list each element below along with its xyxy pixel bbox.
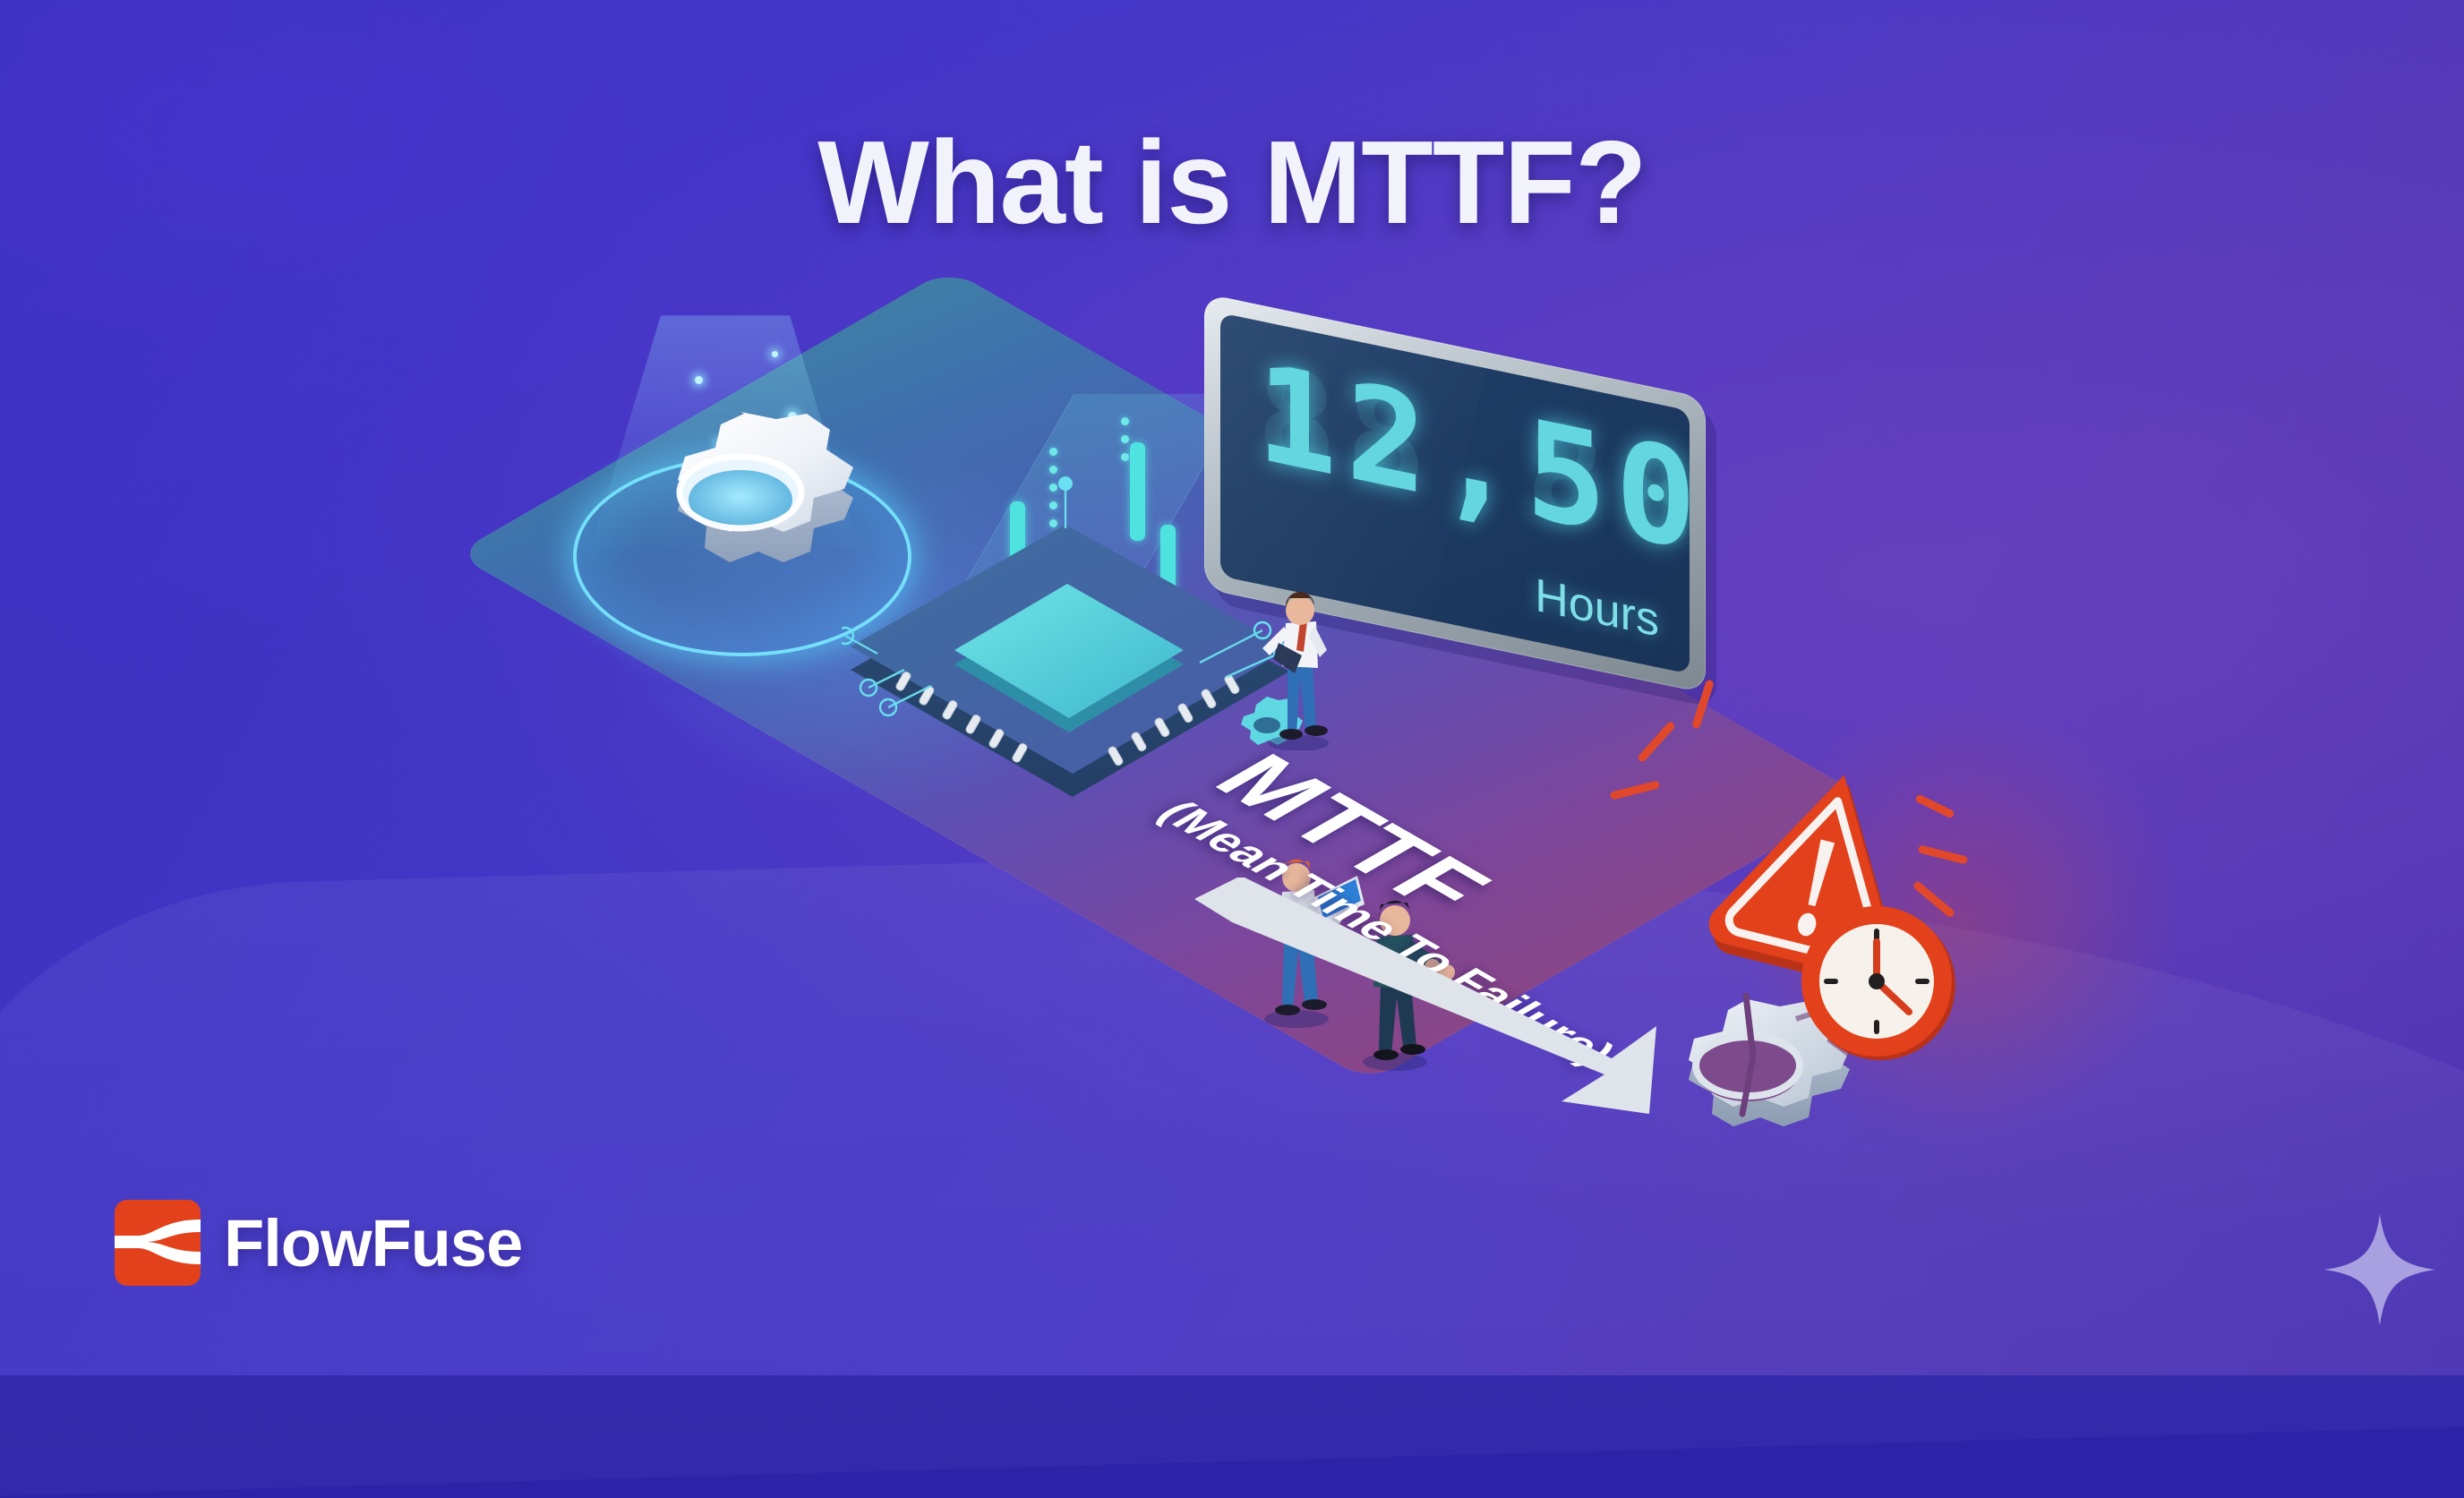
flowfuse-logo[interactable]: FlowFuse <box>115 1200 522 1286</box>
isometric-illustration: 88,888 12,500 Hours <box>0 0 2464 1375</box>
flowfuse-wordmark: FlowFuse <box>224 1205 522 1281</box>
display-unit: Hours <box>1535 569 1659 648</box>
display-value: 12,500 <box>1256 335 1690 603</box>
flow-merge-icon <box>115 1200 201 1286</box>
clock-icon <box>1791 895 1970 1074</box>
sparkle-icon <box>2321 1211 2439 1329</box>
person-engineer-with-clipboard <box>1246 580 1354 750</box>
light-spark <box>772 351 778 357</box>
gear-icon <box>602 392 879 625</box>
flowfuse-mark-icon <box>115 1200 201 1286</box>
light-spark <box>695 376 703 384</box>
